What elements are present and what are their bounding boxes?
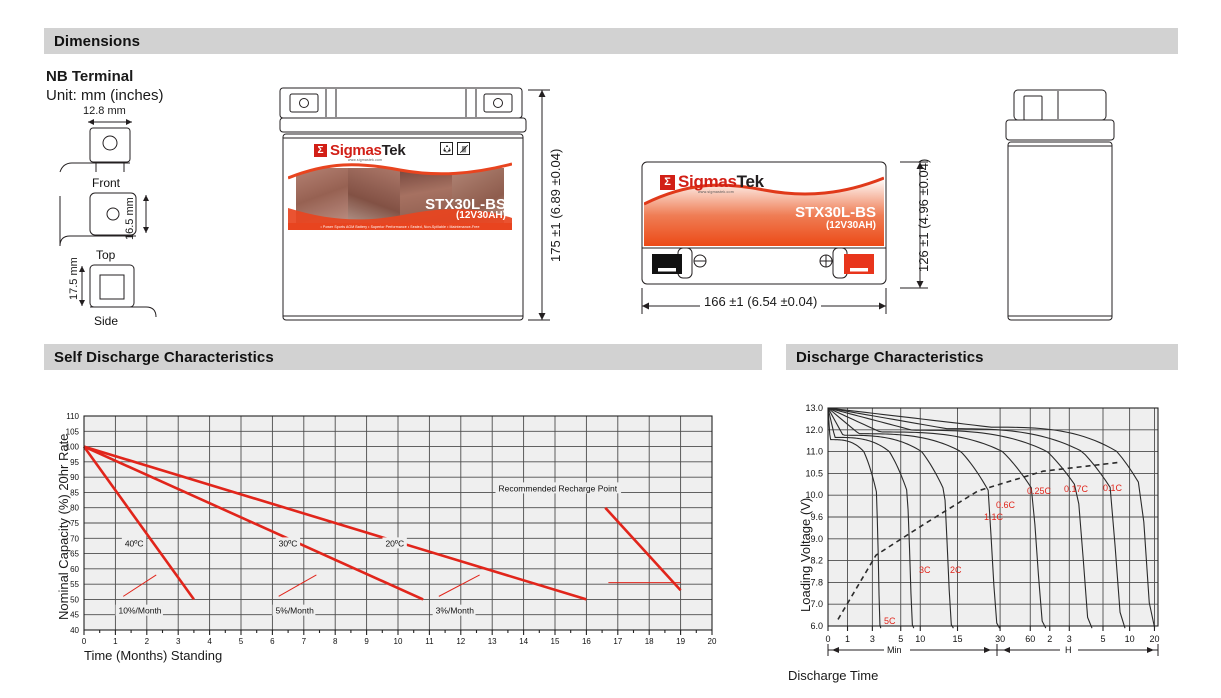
discharge-time-scale-bar: Min H [828,644,1158,656]
svg-text:5: 5 [1100,634,1105,644]
c-rate-label: 0.17C [1064,484,1089,494]
svg-text:1: 1 [113,637,118,646]
battery-spec-side: (12V30AH) [826,220,876,231]
terminal-depth-label: 17.5 mm [68,257,80,300]
svg-text:10: 10 [394,637,403,646]
battery-front-label: Σ SigmasTek www.sigmastek.com STX30L-BS … [288,140,512,230]
svg-text:90: 90 [70,473,79,482]
battery-spec-front: (12V30AH) [456,210,506,221]
height-dimension-arrow [143,195,149,233]
c-rate-label: 0.25C [1027,486,1052,496]
svg-text:11.0: 11.0 [806,447,823,457]
sigma-logo-icon: Σ [314,144,327,157]
chart-annotation: Recommended Recharge Point [498,483,617,493]
svg-text:4: 4 [207,637,212,646]
svg-text:5: 5 [898,634,903,644]
svg-text:20: 20 [1149,634,1159,644]
svg-text:110: 110 [66,412,79,421]
battery-body-height-value: 126 ±1 (4.96 ±0.04) [916,159,931,272]
section-header-discharge: Discharge Characteristics [786,344,1178,370]
svg-text:85: 85 [70,488,79,497]
svg-text:1: 1 [845,634,850,644]
discharge-xlabel: Discharge Time [788,668,878,683]
terminal-top-label: Top [96,248,116,262]
self-discharge-xlabel: Time (Months) Standing [84,648,222,663]
svg-text:60: 60 [70,565,79,574]
svg-text:8: 8 [333,637,338,646]
c-rate-label: 5C [884,616,896,626]
self-discharge-ylabel: Nominal Capacity (%) 20hr Rate [56,434,71,620]
svg-text:75: 75 [70,519,79,528]
battery-model-side: STX30L-BS [795,204,876,221]
battery-side-label: Σ SigmasTek www.sigmastek.com STX30L-BS … [644,164,884,246]
svg-text:7: 7 [302,637,307,646]
brand-name-side: SigmasTek [678,172,764,192]
section-title-discharge: Discharge Characteristics [796,349,984,366]
svg-text:20: 20 [708,637,717,646]
svg-text:18: 18 [645,637,654,646]
svg-text:3: 3 [1067,634,1072,644]
crossed-out-bin-icon [457,142,470,155]
c-rate-label: 0.6C [996,500,1016,510]
battery-length-value: 166 ±1 (6.54 ±0.04) [700,294,821,309]
svg-text:15: 15 [953,634,963,644]
terminal-side-view [90,265,156,317]
svg-text:12: 12 [456,637,465,646]
chart-annotation: 10%/Month [119,606,162,616]
width-dimension-arrow [88,119,132,125]
recycle-icon [440,142,453,155]
section-header-dimensions: Dimensions [44,28,1178,54]
svg-text:95: 95 [70,458,79,467]
svg-text:13: 13 [488,637,497,646]
battery-tagline: • Power Sports AGM Battery • Superior Pe… [288,223,512,230]
svg-text:45: 45 [70,611,79,620]
chart-annotation: 3%/Month [436,606,475,616]
chart-annotation: 30ºC [279,538,298,548]
svg-text:14: 14 [519,637,528,646]
terminal-front-label: Front [92,176,121,190]
terminal-title: NB Terminal [46,68,133,85]
c-rate-label: 3C [919,565,931,575]
brand-logo-side: Σ SigmasTek [660,172,764,192]
terminal-front-view [60,128,130,172]
brand-name: SigmasTek [330,142,405,159]
chart-annotation: 40ºC [125,538,144,548]
section-title-dimensions: Dimensions [54,33,140,50]
brand-logo: Σ SigmasTek [314,142,405,159]
svg-text:2: 2 [145,637,150,646]
svg-text:65: 65 [70,550,79,559]
svg-text:10: 10 [915,634,925,644]
svg-text:11: 11 [425,637,434,646]
svg-text:10.5: 10.5 [805,468,823,478]
svg-text:15: 15 [551,637,560,646]
self-discharge-chart: 4045505560657075808590951001051100123456… [44,404,744,644]
svg-text:10: 10 [1125,634,1135,644]
svg-text:80: 80 [70,504,79,513]
svg-text:3: 3 [176,637,181,646]
svg-text:0: 0 [82,637,87,646]
battery-height-value: 175 ±1 (6.89 ±0.04) [548,149,563,262]
discharge-unit-min: Min [887,645,902,655]
svg-text:6: 6 [270,637,275,646]
svg-text:60: 60 [1025,634,1035,644]
chart-annotation: 5%/Month [276,606,315,616]
svg-text:2: 2 [1047,634,1052,644]
svg-text:50: 50 [70,595,79,604]
terminal-height-label: 16.5 mm [124,197,136,240]
discharge-ylabel: Loading Voltage (V) [798,498,813,612]
svg-text:55: 55 [70,580,79,589]
c-rate-label: 1.1C [984,512,1004,522]
wave-graphic-top [288,160,512,182]
svg-text:40: 40 [70,626,79,635]
svg-text:6.0: 6.0 [810,621,823,631]
svg-text:16: 16 [582,637,591,646]
c-rate-label: 0.1C [1103,483,1123,493]
section-title-self-discharge: Self Discharge Characteristics [54,349,274,366]
chart-annotation: 20ºC [385,538,404,548]
svg-text:13.0: 13.0 [805,403,823,413]
svg-text:17: 17 [613,637,622,646]
svg-text:12.0: 12.0 [805,425,823,435]
terminal-side-label: Side [94,314,118,328]
sigma-logo-icon-side: Σ [660,175,675,190]
discharge-chart: 6.07.07.88.29.09.610.010.511.012.013.001… [786,400,1178,650]
svg-text:9: 9 [364,637,369,646]
battery-side-profile-outline [1000,88,1130,322]
svg-text:30: 30 [995,634,1005,644]
svg-text:3: 3 [870,634,875,644]
discharge-unit-hour: H [1065,645,1072,655]
section-header-self-discharge: Self Discharge Characteristics [44,344,762,370]
svg-text:5: 5 [239,637,244,646]
svg-text:19: 19 [676,637,685,646]
svg-text:0: 0 [825,634,830,644]
c-rate-label: 2C [950,565,962,575]
svg-text:70: 70 [70,534,79,543]
